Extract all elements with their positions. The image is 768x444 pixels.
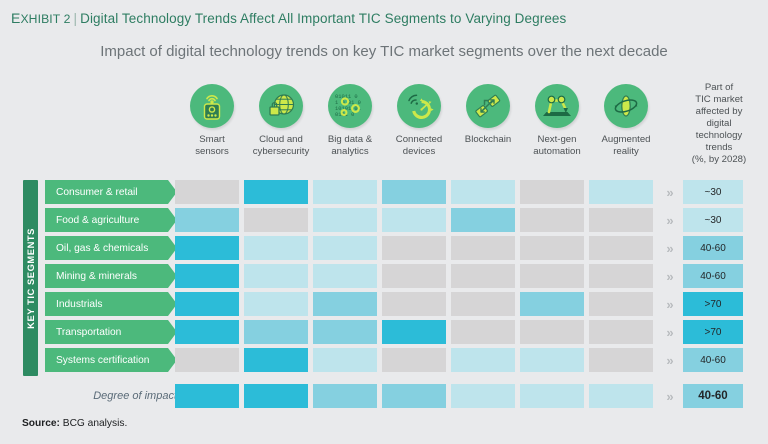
column-label: Connecteddevices bbox=[396, 134, 442, 157]
augmented-reality-icon bbox=[604, 84, 648, 128]
heatmap-cell bbox=[451, 180, 515, 204]
heatmap-cell bbox=[175, 180, 239, 204]
column-label: Augmentedreality bbox=[601, 134, 650, 157]
heatmap-cell bbox=[451, 264, 515, 288]
heatmap-cell bbox=[244, 292, 308, 316]
degree-of-impact-cell bbox=[382, 384, 446, 408]
heatmap-cell bbox=[382, 320, 446, 344]
heatmap-cell bbox=[451, 208, 515, 232]
heatmap-cell bbox=[313, 236, 377, 260]
chevron-right-icon: » bbox=[661, 292, 679, 316]
column-header-blockchain: Blockchain bbox=[451, 84, 525, 146]
heatmap-cell bbox=[589, 236, 653, 260]
heatmap-cell bbox=[451, 236, 515, 260]
row-label-systems-certification[interactable]: Systems certification bbox=[45, 348, 177, 372]
market-share-value: ~30 bbox=[683, 208, 743, 232]
heatmap-cell bbox=[451, 292, 515, 316]
column-header-cloud-cybersecurity: Cloud andcybersecurity bbox=[244, 84, 318, 157]
heatmap-cell bbox=[244, 264, 308, 288]
heatmap-cell bbox=[520, 292, 584, 316]
row-label-mining-minerals[interactable]: Mining & minerals bbox=[45, 264, 177, 288]
heatmap-cell bbox=[589, 264, 653, 288]
column-label: Cloud andcybersecurity bbox=[253, 134, 310, 157]
chevron-right-icon: » bbox=[661, 384, 679, 408]
heatmap-cell bbox=[313, 180, 377, 204]
heatmap-cell bbox=[589, 348, 653, 372]
row-label-food-agriculture[interactable]: Food & agriculture bbox=[45, 208, 177, 232]
heatmap-cell bbox=[451, 320, 515, 344]
heatmap-cell bbox=[520, 320, 584, 344]
column-label: Big data &analytics bbox=[328, 134, 372, 157]
table-row: Mining & minerals»40-60 bbox=[0, 264, 768, 288]
heatmap-cell bbox=[313, 348, 377, 372]
exhibit-number: EXHIBIT 2 bbox=[11, 12, 70, 26]
heatmap-cell bbox=[244, 348, 308, 372]
degree-of-impact-cell bbox=[520, 384, 584, 408]
heatmap-cell bbox=[382, 236, 446, 260]
heatmap-cell bbox=[589, 208, 653, 232]
row-label-transportation[interactable]: Transportation bbox=[45, 320, 177, 344]
exhibit-heading-text: Digital Technology Trends Affect All Imp… bbox=[80, 11, 566, 26]
connected-devices-icon bbox=[397, 84, 441, 128]
heatmap-cell bbox=[520, 208, 584, 232]
column-header-big-data: 01011 0 1 0 01 0 10101 01 0101 0 Big dat… bbox=[313, 84, 387, 157]
heatmap-cell bbox=[313, 208, 377, 232]
heatmap-cell bbox=[244, 236, 308, 260]
heatmap-cell bbox=[244, 208, 308, 232]
heatmap-cell bbox=[520, 236, 584, 260]
degree-of-impact-row: Degree of impact»40-60 bbox=[0, 384, 768, 408]
heatmap-cell bbox=[313, 292, 377, 316]
chevron-right-icon: » bbox=[661, 320, 679, 344]
title-separator: | bbox=[70, 11, 80, 26]
chevron-right-icon: » bbox=[661, 348, 679, 372]
chevron-right-icon: » bbox=[661, 236, 679, 260]
table-row: Consumer & retail»~30 bbox=[0, 180, 768, 204]
blockchain-icon bbox=[466, 84, 510, 128]
heatmap-cell bbox=[175, 208, 239, 232]
table-row: Systems certification»40-60 bbox=[0, 348, 768, 372]
degree-of-impact-cell bbox=[175, 384, 239, 408]
chevron-right-icon: » bbox=[661, 180, 679, 204]
heatmap-cell bbox=[175, 320, 239, 344]
row-label-oil-gas-chemicals[interactable]: Oil, gas & chemicals bbox=[45, 236, 177, 260]
heatmap-cell bbox=[589, 180, 653, 204]
heatmap-cell bbox=[175, 292, 239, 316]
heatmap-cell bbox=[520, 180, 584, 204]
heatmap-cell bbox=[244, 180, 308, 204]
automation-robot-icon bbox=[535, 84, 579, 128]
heatmap-cell bbox=[244, 320, 308, 344]
degree-of-impact-cell bbox=[451, 384, 515, 408]
table-row: Transportation»>70 bbox=[0, 320, 768, 344]
heatmap-cell bbox=[382, 180, 446, 204]
market-share-value: 40-60 bbox=[683, 348, 743, 372]
cloud-security-icon bbox=[259, 84, 303, 128]
heatmap-cell bbox=[175, 348, 239, 372]
heatmap-cell bbox=[520, 264, 584, 288]
column-label: Blockchain bbox=[465, 134, 511, 146]
table-row: Food & agriculture»~30 bbox=[0, 208, 768, 232]
smart-sensor-icon bbox=[190, 84, 234, 128]
degree-of-impact-cell bbox=[589, 384, 653, 408]
chevron-right-icon: » bbox=[661, 264, 679, 288]
heatmap-cell bbox=[520, 348, 584, 372]
market-share-value: >70 bbox=[683, 320, 743, 344]
heatmap-cell bbox=[313, 264, 377, 288]
column-label: Next-genautomation bbox=[533, 134, 580, 157]
market-share-value: ~30 bbox=[683, 180, 743, 204]
degree-of-impact-cell bbox=[313, 384, 377, 408]
value-column-header: Part of TIC market affected by digital t… bbox=[672, 82, 766, 167]
heatmap-cell bbox=[589, 320, 653, 344]
row-label-industrials[interactable]: Industrials bbox=[45, 292, 177, 316]
market-share-value: >70 bbox=[683, 292, 743, 316]
market-share-value: 40-60 bbox=[683, 264, 743, 288]
heatmap-cell bbox=[382, 348, 446, 372]
degree-of-impact-cell bbox=[244, 384, 308, 408]
heatmap-cell bbox=[589, 292, 653, 316]
exhibit-title: EXHIBIT 2|Digital Technology Trends Affe… bbox=[11, 10, 566, 26]
degree-of-impact-summary-value: 40-60 bbox=[683, 384, 743, 408]
column-header-smart-sensors: Smartsensors bbox=[175, 84, 249, 157]
heatmap-cell bbox=[175, 236, 239, 260]
market-share-value: 40-60 bbox=[683, 236, 743, 260]
heatmap-cell bbox=[175, 264, 239, 288]
chevron-right-icon: » bbox=[661, 208, 679, 232]
heatmap-cell bbox=[313, 320, 377, 344]
source-note: Source: BCG analysis. bbox=[22, 418, 127, 429]
table-row: Industrials»>70 bbox=[0, 292, 768, 316]
exhibit-root: EXHIBIT 2|Digital Technology Trends Affe… bbox=[0, 0, 768, 444]
column-header-augmented-reality: Augmentedreality bbox=[589, 84, 663, 157]
column-header-next-gen-automation: Next-genautomation bbox=[520, 84, 594, 157]
big-data-icon: 01011 0 1 0 01 0 10101 01 0101 0 bbox=[328, 84, 372, 128]
heatmap-cell bbox=[382, 264, 446, 288]
heatmap-cell bbox=[451, 348, 515, 372]
column-header-row: Smartsensors Cloud andcybersecurity bbox=[0, 84, 768, 176]
heatmap-cell bbox=[382, 208, 446, 232]
table-row: Oil, gas & chemicals»40-60 bbox=[0, 236, 768, 260]
column-header-connected-devices: Connecteddevices bbox=[382, 84, 456, 157]
heatmap-cell bbox=[382, 292, 446, 316]
row-label-consumer-retail[interactable]: Consumer & retail bbox=[45, 180, 177, 204]
exhibit-subtitle: Impact of digital technology trends on k… bbox=[0, 43, 768, 60]
degree-of-impact-label: Degree of impact bbox=[45, 384, 177, 408]
column-label: Smartsensors bbox=[195, 134, 229, 157]
